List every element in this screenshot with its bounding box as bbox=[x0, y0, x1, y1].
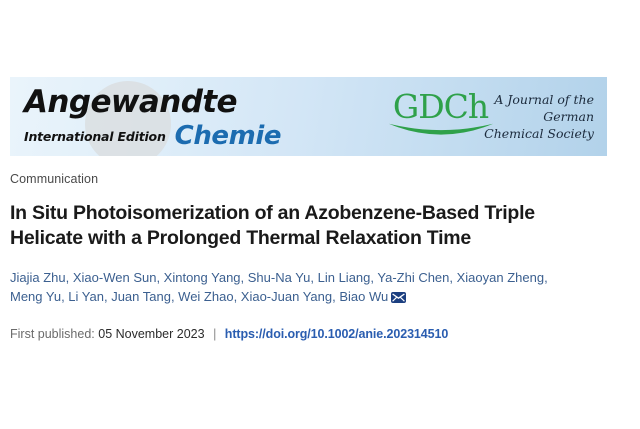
journal-title-chemie: Chemie bbox=[175, 121, 281, 151]
society-tagline-line-1: A Journal of the bbox=[444, 91, 594, 108]
journal-subtitle-row: International Edition Chemie bbox=[24, 118, 274, 148]
society-tagline-line-3: Chemical Society bbox=[444, 125, 594, 142]
author-names[interactable]: Jiajia Zhu, Xiao-Wen Sun, Xintong Yang, … bbox=[10, 270, 548, 304]
journal-banner: Angewandte International Edition Chemie … bbox=[10, 77, 607, 156]
society-tagline-line-2: German bbox=[444, 108, 594, 125]
publication-separator: | bbox=[208, 327, 221, 341]
author-list: Jiajia Zhu, Xiao-Wen Sun, Xintong Yang, … bbox=[10, 268, 570, 308]
journal-edition-label: International Edition bbox=[24, 129, 166, 144]
page-title: In Situ Photoisomerization of an Azobenz… bbox=[10, 201, 590, 251]
journal-title-angewandte: Angewandte bbox=[24, 85, 274, 119]
society-tagline: A Journal of the German Chemical Society bbox=[444, 91, 594, 142]
journal-logo[interactable]: Angewandte International Edition Chemie bbox=[24, 85, 274, 148]
first-published-date: 05 November 2023 bbox=[98, 327, 204, 341]
publication-info: First published: 05 November 2023 | http… bbox=[10, 325, 610, 343]
envelope-icon[interactable] bbox=[391, 289, 406, 308]
article-type-label: Communication bbox=[10, 172, 610, 186]
doi-link[interactable]: https://doi.org/10.1002/anie.202314510 bbox=[225, 327, 448, 341]
first-published-label: First published: bbox=[10, 327, 95, 341]
article-header: Communication In Situ Photoisomerization… bbox=[10, 172, 610, 343]
